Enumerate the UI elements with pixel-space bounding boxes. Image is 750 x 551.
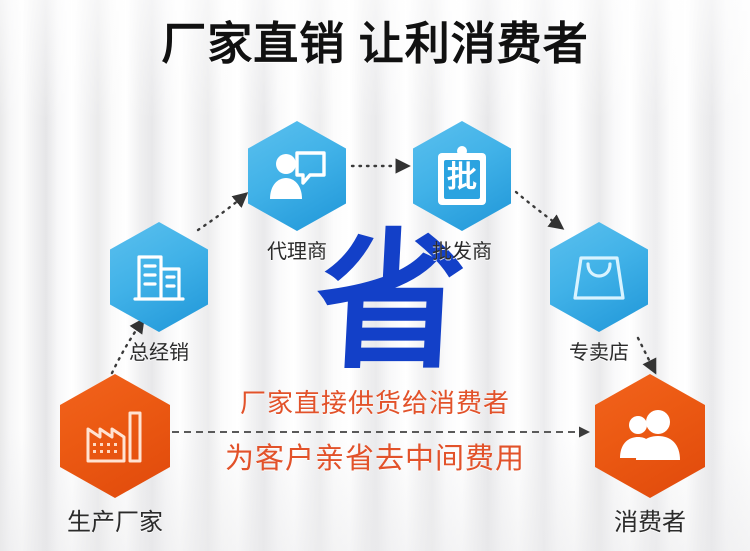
node-label-store: 专卖店	[569, 336, 629, 365]
wholesaler-glyph: 批	[435, 157, 489, 199]
page-title: 厂家直销 让利消费者	[0, 14, 750, 74]
slogan-line-1: 厂家直接供货给消费者	[0, 386, 750, 420]
node-wholesaler[interactable]: 批 批发商	[413, 121, 511, 231]
node-label-wholesaler: 批发商	[432, 235, 492, 264]
hexagon-shape-agent	[248, 121, 346, 231]
node-label-agent: 代理商	[267, 235, 327, 264]
shopping-bag-icon	[571, 250, 627, 304]
node-label-general-distributor: 总经销	[129, 336, 189, 365]
hexagon-shape-wholesaler: 批	[413, 121, 511, 231]
infographic-canvas: 厂家直销 让利消费者 省	[0, 0, 750, 551]
hexagon-shape-store	[550, 222, 648, 332]
office-building-icon	[131, 249, 187, 305]
node-agent[interactable]: 代理商	[248, 121, 346, 231]
node-store[interactable]: 专卖店	[550, 222, 648, 332]
slogan-line-2: 为客户亲省去中间费用	[0, 440, 750, 478]
person-chat-icon	[267, 149, 327, 203]
connector-store-to-consumer	[638, 338, 655, 372]
hexagon-shape-general	[110, 222, 208, 332]
node-label-factory: 生产厂家	[67, 502, 163, 537]
clipboard-pi-icon: 批	[435, 145, 489, 207]
node-general-distributor[interactable]: 总经销	[110, 222, 208, 332]
node-label-consumer: 消费者	[614, 502, 686, 537]
